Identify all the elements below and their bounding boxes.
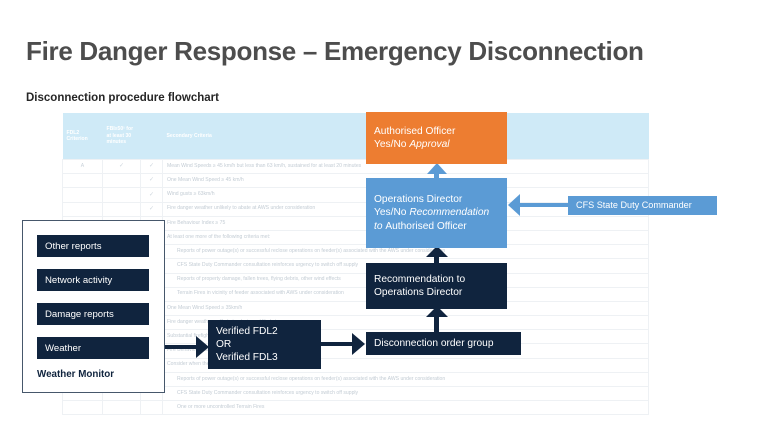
criteria-table-header: FDL2 Criterion FBI≥50¹ for at least 30 m… — [63, 113, 649, 160]
verified-fdl-line2: OR — [216, 338, 313, 351]
operations-director-line2-italic: Recommendation — [409, 207, 489, 218]
weather-monitor-item-damage-reports-label: Damage reports — [45, 309, 114, 320]
verified-fdl-line3: Verified FDL3 — [216, 351, 313, 364]
table-cell-fdl-criterion — [63, 401, 103, 415]
operations-director-line1: Operations Director — [374, 193, 499, 206]
table-cell-tick: ✓ — [141, 202, 163, 216]
column-header-tick — [141, 113, 163, 160]
table-cell-tick: ✓ — [141, 174, 163, 188]
box-verified-fdl[interactable]: Verified FDL2 OR Verified FDL3 — [208, 320, 321, 369]
table-cell-fbi — [103, 188, 141, 202]
table-cell-secondary-criteria: One or more uncontrolled Terrain Fires — [163, 401, 649, 415]
weather-monitor-panel-label: Weather Monitor — [37, 369, 114, 380]
box-cfs-state-duty-commander[interactable]: CFS State Duty Commander — [568, 196, 717, 215]
weather-monitor-item-other-reports[interactable]: Other reports — [37, 235, 149, 257]
weather-monitor-panel: Other reports Network activity Damage re… — [22, 220, 165, 393]
weather-monitor-item-weather[interactable]: Weather — [37, 337, 149, 359]
connector-cfs-to-operations-shaft — [520, 203, 570, 207]
recommendation-line1: Recommendation to — [374, 273, 499, 286]
connector-operations-to-authorised-arrow-icon — [427, 163, 447, 174]
table-cell-tick: ✓ — [141, 188, 163, 202]
table-row: A✓✓Mean Wind Speeds ≥ 45 km/h but less t… — [63, 160, 649, 174]
table-cell-fbi — [103, 174, 141, 188]
table-cell-fdl-criterion — [63, 202, 103, 216]
page-subtitle: Disconnection procedure flowchart — [26, 92, 219, 104]
weather-monitor-item-network-activity[interactable]: Network activity — [37, 269, 149, 291]
table-row: ✓Wind gusts ≥ 63km/h — [63, 188, 649, 202]
table-cell-secondary-criteria: Reports of power outage(s) or successful… — [163, 372, 649, 386]
weather-monitor-item-other-reports-label: Other reports — [45, 241, 102, 252]
table-header-row: FDL2 Criterion FBI≥50¹ for at least 30 m… — [63, 113, 649, 160]
table-row: ✓One Mean Wind Speed ≥ 45 km/h — [63, 174, 649, 188]
table-cell-fbi — [103, 401, 141, 415]
box-operations-director[interactable]: Operations Director Yes/No Recommendatio… — [366, 178, 507, 248]
disconnection-order-group-label: Disconnection order group — [374, 337, 513, 350]
table-cell-fdl-criterion — [63, 188, 103, 202]
box-recommendation-to-operations-director[interactable]: Recommendation to Operations Director — [366, 263, 507, 309]
weather-monitor-item-network-activity-label: Network activity — [45, 275, 112, 286]
table-cell-fbi — [103, 202, 141, 216]
page-title: Fire Danger Response – Emergency Disconn… — [26, 36, 644, 67]
operations-director-line2: Yes/No Recommendation — [374, 206, 499, 219]
cfs-state-duty-commander-label: CFS State Duty Commander — [576, 200, 709, 212]
operations-director-line3: to Authorised Officer — [374, 220, 499, 233]
operations-director-line3-italic: to — [374, 221, 385, 232]
table-cell-tick: ✓ — [141, 160, 163, 174]
weather-monitor-item-damage-reports[interactable]: Damage reports — [37, 303, 149, 325]
operations-director-line2-plain: Yes/No — [374, 207, 409, 218]
table-cell-fdl-criterion — [63, 174, 103, 188]
authorised-officer-line2: Yes/No Approval — [374, 138, 499, 151]
table-cell-tick — [141, 401, 163, 415]
operations-director-line3-plain: Authorised Officer — [385, 221, 466, 232]
box-disconnection-order-group[interactable]: Disconnection order group — [366, 332, 521, 355]
authorised-officer-line2-italic: Approval — [409, 139, 449, 150]
authorised-officer-line1: Authorised Officer — [374, 125, 499, 138]
table-cell-fbi: ✓ — [103, 160, 141, 174]
authorised-officer-line2-plain: Yes/No — [374, 139, 409, 150]
connector-verified-to-disconnection-arrow-icon — [352, 333, 365, 355]
table-cell-fdl-criterion: A — [63, 160, 103, 174]
weather-monitor-item-weather-label: Weather — [45, 343, 81, 354]
recommendation-line2: Operations Director — [374, 286, 499, 299]
connector-cfs-to-operations-arrow-icon — [508, 194, 520, 216]
column-header-fdl-criterion: FDL2 Criterion — [63, 113, 103, 160]
table-row: One or more uncontrolled Terrain Fires — [63, 401, 649, 415]
column-header-fbi: FBI≥50¹ for at least 30 minutes — [103, 113, 141, 160]
box-authorised-officer[interactable]: Authorised Officer Yes/No Approval — [366, 112, 507, 164]
verified-fdl-line1: Verified FDL2 — [216, 325, 313, 338]
table-cell-secondary-criteria: CFS State Duty Commander consultation re… — [163, 387, 649, 401]
